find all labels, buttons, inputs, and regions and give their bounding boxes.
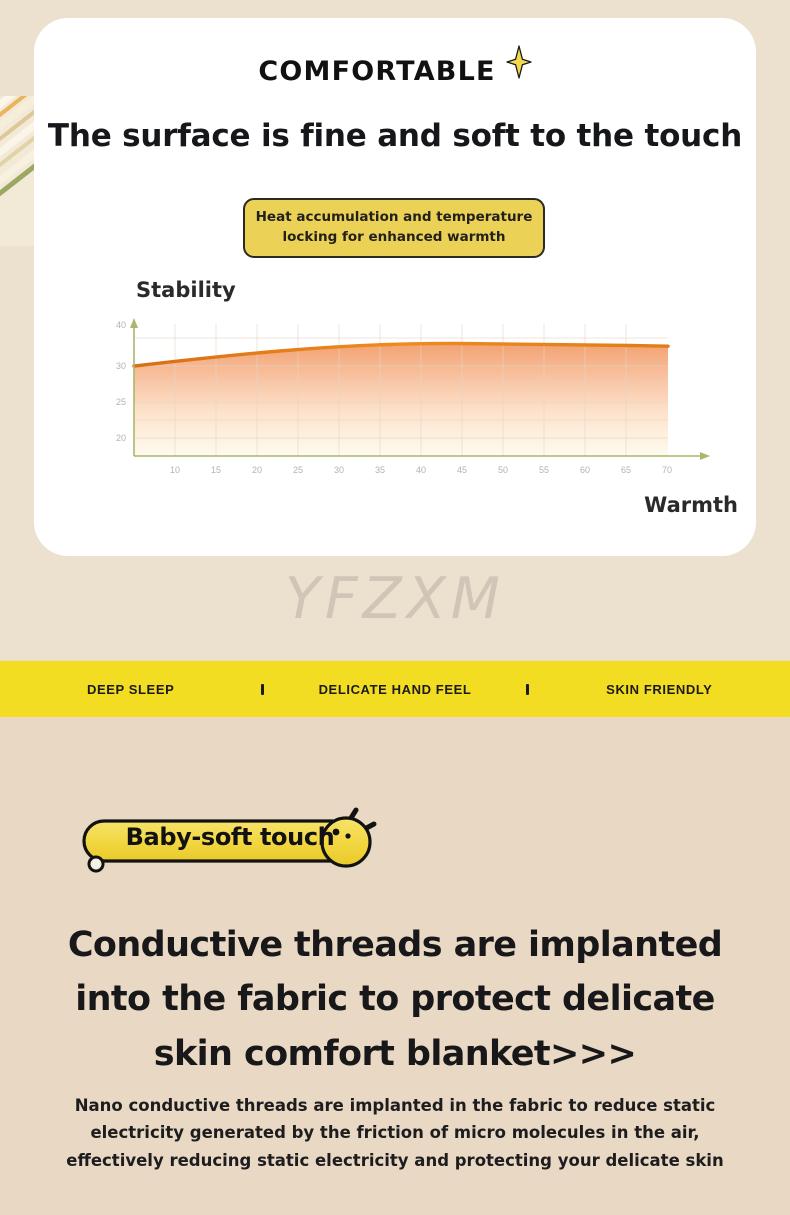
svg-text:55: 55: [539, 465, 549, 475]
banner-item-delicate-hand-feel: DELICATE HAND FEEL: [264, 682, 525, 697]
chart-canvas: 40 30 25 20 10 15 20 25 30 35 40 45 50 5…: [100, 316, 740, 496]
card-headline: The surface is fine and soft to the touc…: [34, 118, 756, 154]
bottom-paragraph: Nano conductive threads are implanted in…: [45, 1092, 745, 1174]
svg-text:40: 40: [416, 465, 426, 475]
sparkle-icon: [506, 45, 532, 79]
chart-x-axis-label: Warmth: [644, 493, 738, 517]
svg-text:25: 25: [293, 465, 303, 475]
svg-text:65: 65: [621, 465, 631, 475]
svg-text:40: 40: [116, 320, 126, 330]
chart-x-tick-labels: 10 15 20 25 30 35 40 45 50 55 60 65 70: [170, 465, 672, 475]
chart-y-tick-labels: 40 30 25 20: [116, 320, 126, 443]
watermark-text: YFZXM: [0, 566, 790, 632]
chart-y-axis-label: Stability: [136, 278, 236, 302]
svg-text:20: 20: [116, 433, 126, 443]
product-detail-page: COMFORTABLE The surface is fine and soft…: [0, 0, 790, 1215]
chart-y-axis-arrow: [130, 318, 138, 328]
svg-text:25: 25: [116, 397, 126, 407]
svg-text:30: 30: [116, 361, 126, 371]
baby-soft-touch-badge: Baby-soft touch: [78, 806, 378, 874]
svg-text:45: 45: [457, 465, 467, 475]
bottom-heading-line-3: skin comfort blanket>>>: [20, 1027, 770, 1081]
chart-area-fill: [134, 343, 668, 456]
svg-text:35: 35: [375, 465, 385, 475]
comfort-feature-card: COMFORTABLE The surface is fine and soft…: [34, 18, 756, 556]
bottom-heading-line-2: into the fabric to protect delicate: [20, 972, 770, 1026]
banner-item-skin-friendly: SKIN FRIENDLY: [529, 682, 790, 697]
bottom-heading: Conductive threads are implanted into th…: [20, 918, 770, 1081]
kicker-row: COMFORTABLE: [34, 58, 756, 85]
warmth-highlight-pill: Heat accumulation and temperature lockin…: [243, 198, 545, 258]
banner-item-deep-sleep: DEEP SLEEP: [0, 682, 261, 697]
badge-label: Baby-soft touch: [100, 823, 360, 851]
stability-warmth-chart: Stability Warmth: [100, 278, 740, 528]
feature-banner: DEEP SLEEP DELICATE HAND FEEL SKIN FRIEN…: [0, 661, 790, 717]
fabric-texture-decoration: [0, 96, 34, 246]
svg-text:60: 60: [580, 465, 590, 475]
kicker-label: COMFORTABLE: [258, 58, 495, 85]
svg-text:30: 30: [334, 465, 344, 475]
svg-text:20: 20: [252, 465, 262, 475]
bottom-heading-line-1: Conductive threads are implanted: [20, 918, 770, 972]
chart-x-axis-arrow: [700, 452, 710, 460]
svg-text:50: 50: [498, 465, 508, 475]
svg-text:70: 70: [662, 465, 672, 475]
svg-text:15: 15: [211, 465, 221, 475]
svg-text:10: 10: [170, 465, 180, 475]
